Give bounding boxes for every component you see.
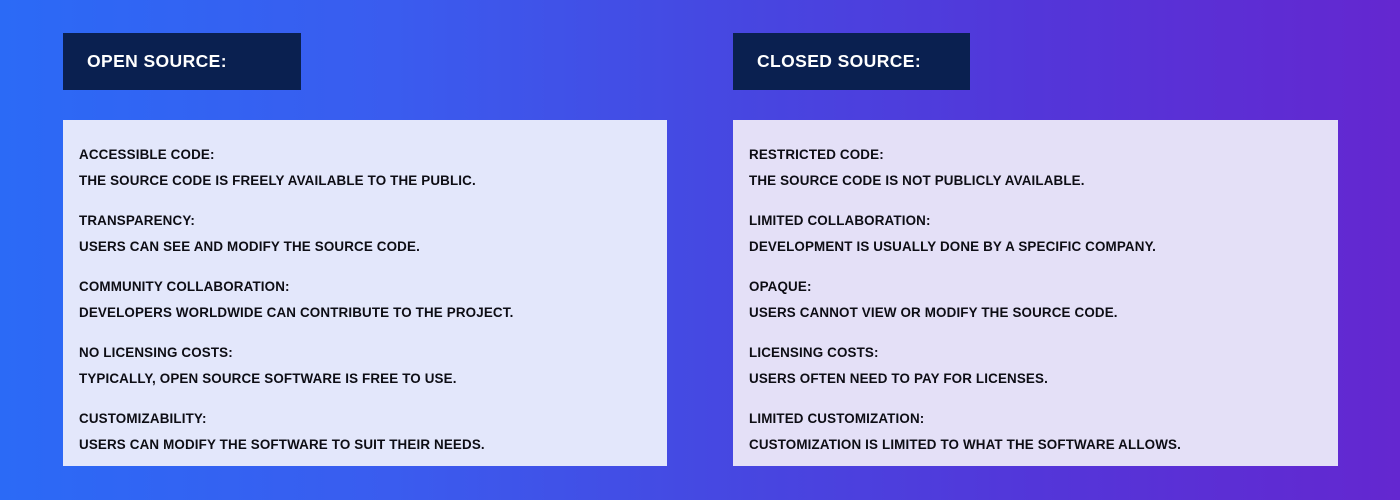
list-item: ACCESSIBLE CODE: THE SOURCE CODE IS FREE… <box>79 142 649 194</box>
list-item: TRANSPARENCY: USERS CAN SEE AND MODIFY T… <box>79 208 649 260</box>
panel-open-source: ACCESSIBLE CODE: THE SOURCE CODE IS FREE… <box>63 120 667 466</box>
column-closed-source: CLOSED SOURCE: RESTRICTED CODE: THE SOUR… <box>733 0 1373 500</box>
list-item: LIMITED COLLABORATION: DEVELOPMENT IS US… <box>749 208 1320 260</box>
column-open-source: OPEN SOURCE: ACCESSIBLE CODE: THE SOURCE… <box>63 0 703 500</box>
entry-description: DEVELOPMENT IS USUALLY DONE BY A SPECIFI… <box>749 234 1320 260</box>
entry-description: CUSTOMIZATION IS LIMITED TO WHAT THE SOF… <box>749 432 1320 458</box>
list-item: OPAQUE: USERS CANNOT VIEW OR MODIFY THE … <box>749 274 1320 326</box>
entry-description: DEVELOPERS WORLDWIDE CAN CONTRIBUTE TO T… <box>79 300 649 326</box>
list-item: NO LICENSING COSTS: TYPICALLY, OPEN SOUR… <box>79 340 649 392</box>
list-item: CUSTOMIZABILITY: USERS CAN MODIFY THE SO… <box>79 406 649 458</box>
entry-term: RESTRICTED CODE: <box>749 142 1320 168</box>
comparison-infographic: OPEN SOURCE: ACCESSIBLE CODE: THE SOURCE… <box>0 0 1400 500</box>
entry-description: THE SOURCE CODE IS FREELY AVAILABLE TO T… <box>79 168 649 194</box>
entry-description: USERS OFTEN NEED TO PAY FOR LICENSES. <box>749 366 1320 392</box>
heading-label-closed-source: CLOSED SOURCE: <box>757 51 921 72</box>
entry-term: ACCESSIBLE CODE: <box>79 142 649 168</box>
entry-description: USERS CAN SEE AND MODIFY THE SOURCE CODE… <box>79 234 649 260</box>
entry-term: LICENSING COSTS: <box>749 340 1320 366</box>
heading-label-open-source: OPEN SOURCE: <box>87 51 227 72</box>
entry-term: COMMUNITY COLLABORATION: <box>79 274 649 300</box>
panel-closed-source: RESTRICTED CODE: THE SOURCE CODE IS NOT … <box>733 120 1338 466</box>
heading-badge-closed-source: CLOSED SOURCE: <box>733 33 970 90</box>
list-item: COMMUNITY COLLABORATION: DEVELOPERS WORL… <box>79 274 649 326</box>
entry-description: USERS CAN MODIFY THE SOFTWARE TO SUIT TH… <box>79 432 649 458</box>
list-item: LIMITED CUSTOMIZATION: CUSTOMIZATION IS … <box>749 406 1320 458</box>
entry-description: TYPICALLY, OPEN SOURCE SOFTWARE IS FREE … <box>79 366 649 392</box>
entry-term: LIMITED COLLABORATION: <box>749 208 1320 234</box>
entry-term: OPAQUE: <box>749 274 1320 300</box>
entry-term: CUSTOMIZABILITY: <box>79 406 649 432</box>
heading-badge-open-source: OPEN SOURCE: <box>63 33 301 90</box>
entry-term: TRANSPARENCY: <box>79 208 649 234</box>
entry-description: USERS CANNOT VIEW OR MODIFY THE SOURCE C… <box>749 300 1320 326</box>
entry-term: NO LICENSING COSTS: <box>79 340 649 366</box>
list-item: LICENSING COSTS: USERS OFTEN NEED TO PAY… <box>749 340 1320 392</box>
list-item: RESTRICTED CODE: THE SOURCE CODE IS NOT … <box>749 142 1320 194</box>
entry-term: LIMITED CUSTOMIZATION: <box>749 406 1320 432</box>
entry-description: THE SOURCE CODE IS NOT PUBLICLY AVAILABL… <box>749 168 1320 194</box>
